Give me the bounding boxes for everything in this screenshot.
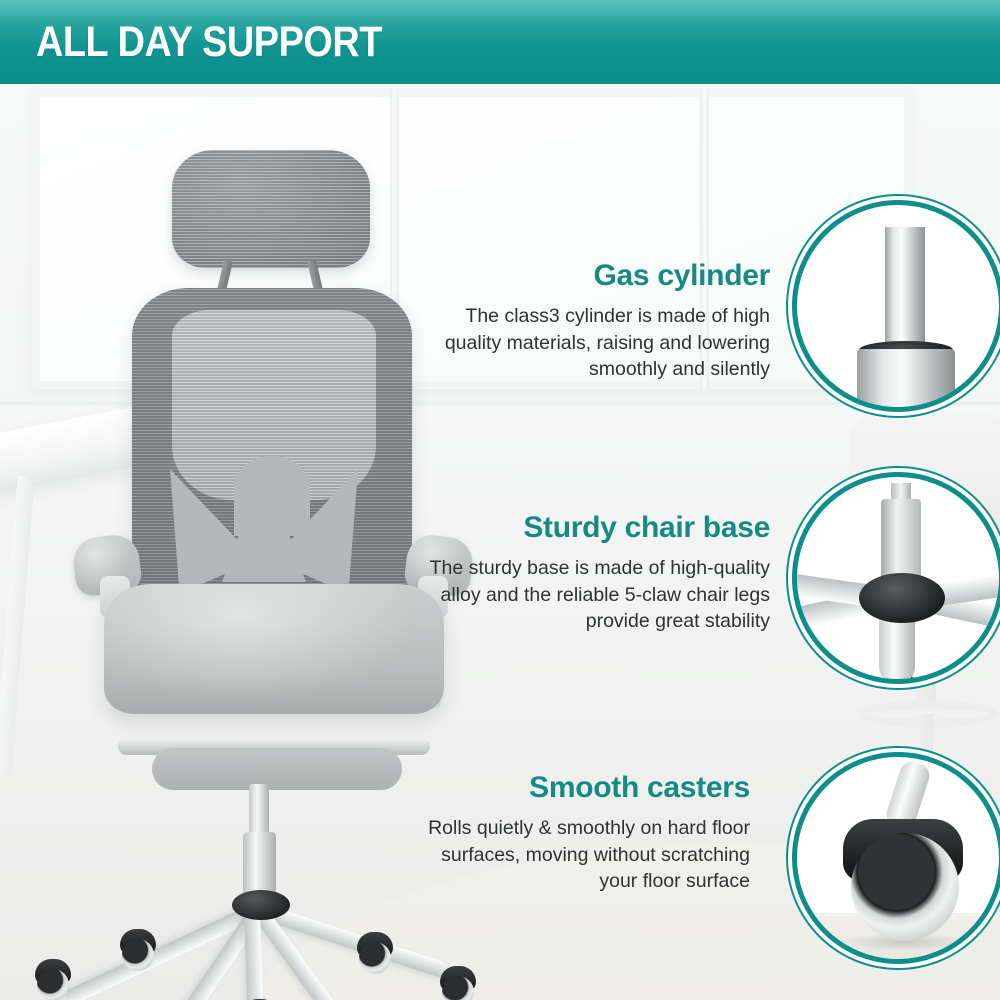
chair-headrest [172,150,370,268]
feature-title-smooth-casters: Smooth casters [400,770,750,806]
seat-cushion [104,584,444,714]
feature-body-smooth-casters: Rolls quietly & smoothly on hard floor s… [400,815,750,895]
caster-wheel-icon [851,833,959,941]
page-title: ALL DAY SUPPORT [36,17,382,67]
callout-gas-cylinder-icon [792,200,1000,412]
backrest-wing-pattern [150,464,394,594]
callout-chair-base-icon [792,472,1000,684]
feature-smooth-casters: Smooth casters Rolls quietly & smoothly … [400,770,750,895]
feature-title-gas-cylinder: Gas cylinder [420,258,770,294]
gas-cylinder-body-icon [857,349,955,407]
retractable-footrest [152,748,402,790]
feature-body-gas-cylinder: The class3 cylinder is made of high qual… [420,303,770,383]
infographic-canvas: ALL DAY SUPPORT [0,0,1000,1000]
gas-cylinder-sleeve [243,832,276,898]
base-hub-icon [859,573,945,623]
gas-cylinder-rod-icon [885,227,925,349]
feature-body-sturdy-chair-base: The sturdy base is made of high-quality … [420,555,770,635]
base-center-hub [232,890,290,920]
callout-caster-icon [792,752,1000,964]
caster-right-outer [438,966,478,1000]
feature-sturdy-chair-base: Sturdy chair base The sturdy base is mad… [420,510,770,635]
caster-left-outer [33,959,73,999]
header-banner: ALL DAY SUPPORT [0,0,1000,84]
feature-title-sturdy-chair-base: Sturdy chair base [420,510,770,546]
caster-left-inner [118,929,158,969]
feature-gas-cylinder: Gas cylinder The class3 cylinder is made… [420,258,770,383]
caster-right-inner [355,932,395,972]
